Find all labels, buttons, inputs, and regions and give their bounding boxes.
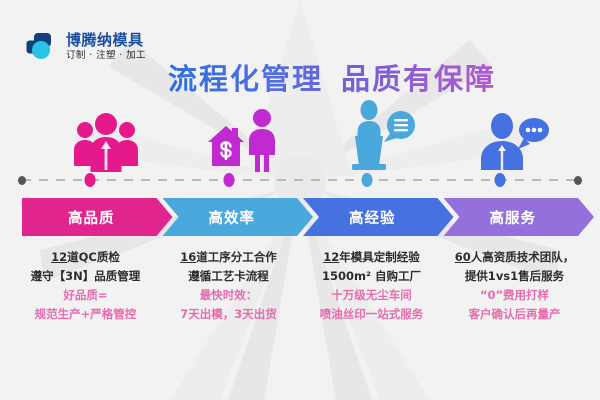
detail-line: 客户确认后再量产 [443, 305, 586, 324]
pillar-icon-4 [442, 96, 582, 174]
banner-4[interactable]: 高服务 [444, 198, 595, 236]
brand-logo[interactable]: 博腾纳模具 订制 · 注塑 · 加工 [26, 30, 146, 64]
detail-column-2: 16道工序分工合作遵循工艺卡流程最快时效：7天出模，3天出货 [157, 248, 300, 324]
detail-column-3: 12年模具定制经验1500m² 自购工厂十万级无尘车间喷油丝印一站式服务 [300, 248, 443, 324]
detail-line: 最快时效： [157, 286, 300, 305]
pillar-icons-row [0, 96, 600, 174]
timeline-dot-3 [362, 173, 373, 187]
banner-1[interactable]: 高品质 [22, 198, 173, 236]
detail-line: 16道工序分工合作 [157, 248, 300, 267]
detail-line: 7天出模，3天出货 [157, 305, 300, 324]
detail-line: 好品质= [14, 286, 157, 305]
banner-4-label: 高服务 [490, 207, 537, 228]
banner-3-label: 高经验 [349, 207, 396, 228]
timeline-start-cap [18, 176, 26, 185]
detail-line: 1500m² 自购工厂 [300, 267, 443, 286]
page-title: 流程化管理品质有保障 [168, 56, 496, 98]
detail-line: 遵循工艺卡流程 [157, 267, 300, 286]
botengna-logo-mark-icon [26, 30, 60, 64]
detail-line: “0”费用打样 [443, 286, 586, 305]
timeline [0, 172, 600, 188]
page-title-part2: 品质有保障 [341, 62, 496, 96]
banner-2-label: 高效率 [209, 207, 256, 228]
brand-name: 博腾纳模具 [66, 33, 146, 48]
pillar-icon-1 [36, 96, 176, 174]
detail-line: 规范生产+严格管控 [14, 305, 157, 324]
pillar-icon-3 [308, 96, 448, 174]
banner-1-label: 高品质 [68, 207, 115, 228]
person-chat-icon [472, 110, 552, 174]
timeline-dot-4 [495, 173, 506, 187]
page-title-part1: 流程化管理 [168, 62, 323, 96]
podium-speaker-icon [339, 98, 417, 174]
timeline-end-cap [574, 176, 582, 185]
banner-2[interactable]: 高效率 [163, 198, 314, 236]
detail-line: 提供1vs1售后服务 [443, 267, 586, 286]
detail-line: 喷油丝印一站式服务 [300, 305, 443, 324]
detail-line: 12年模具定制经验 [300, 248, 443, 267]
detail-line: 60人高资质技术团队， [443, 248, 586, 267]
group-of-people-icon [69, 108, 143, 174]
pillar-icon-2 [172, 96, 312, 174]
infographic-canvas: 博腾纳模具 订制 · 注塑 · 加工 流程化管理品质有保障 [0, 0, 600, 400]
detail-column-4: 60人高资质技术团队，提供1vs1售后服务“0”费用打样客户确认后再量产 [443, 248, 586, 324]
detail-line: 十万级无尘车间 [300, 286, 443, 305]
timeline-dot-2 [224, 173, 235, 187]
timeline-dot-1 [85, 173, 96, 187]
pillar-details: 12道QC质检遵守【3N】品质管理好品质=规范生产+严格管控 16道工序分工合作… [14, 248, 586, 360]
detail-line: 遵守【3N】品质管理 [14, 267, 157, 286]
detail-column-1: 12道QC质检遵守【3N】品质管理好品质=规范生产+严格管控 [14, 248, 157, 324]
pillar-banners: 高品质 高效率 高经验 高服务 [22, 198, 578, 236]
page-header: 博腾纳模具 订制 · 注塑 · 加工 流程化管理品质有保障 [0, 22, 600, 84]
detail-line: 12道QC质检 [14, 248, 157, 267]
brand-tagline: 订制 · 注塑 · 加工 [66, 51, 146, 61]
banner-3[interactable]: 高经验 [303, 198, 454, 236]
house-money-person-icon [202, 104, 282, 174]
